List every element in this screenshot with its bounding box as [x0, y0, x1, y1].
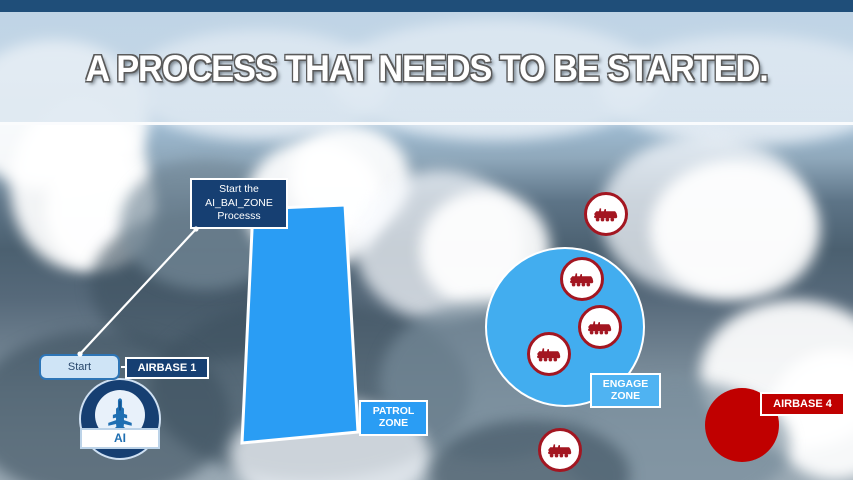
airbase1-label[interactable]: AIRBASE 1	[125, 357, 209, 379]
enemy-unit-3[interactable]	[578, 305, 622, 349]
patrol-zone-label-line-2: ZONE	[379, 418, 408, 430]
title-underline	[0, 122, 853, 125]
patrol-zone-polygon[interactable]	[225, 195, 375, 450]
process-callout-box[interactable]: Start the AI_BAI_ZONE Processs	[190, 178, 288, 229]
airbase4-label[interactable]: AIRBASE 4	[760, 392, 845, 416]
tank-icon	[546, 440, 574, 460]
process-line-3: Processs	[217, 210, 260, 224]
enemy-unit-5[interactable]	[538, 428, 582, 472]
engage-zone-label-line-2: ZONE	[611, 391, 640, 403]
tank-icon	[568, 269, 596, 289]
enemy-unit-4[interactable]	[527, 332, 571, 376]
engage-zone-label[interactable]: ENGAGE ZONE	[590, 373, 661, 408]
top-accent-bar	[0, 0, 853, 12]
start-button[interactable]: Start	[39, 354, 120, 380]
tank-icon	[586, 317, 614, 337]
engage-zone-label-line-1: ENGAGE	[603, 379, 649, 391]
enemy-unit-1[interactable]	[584, 192, 628, 236]
process-line-2: AI_BAI_ZONE	[205, 197, 273, 211]
page-title: A PROCESS THAT NEEDS TO BE STARTED.	[30, 48, 823, 90]
patrol-zone-label[interactable]: PATROL ZONE	[359, 400, 428, 436]
aircraft-label[interactable]: AI	[80, 428, 160, 449]
tank-icon	[592, 204, 620, 224]
tank-icon	[535, 344, 563, 364]
enemy-unit-2[interactable]	[560, 257, 604, 301]
presentation-slide: A PROCESS THAT NEEDS TO BE STARTED.	[0, 0, 853, 480]
process-line-1: Start the	[219, 183, 259, 197]
